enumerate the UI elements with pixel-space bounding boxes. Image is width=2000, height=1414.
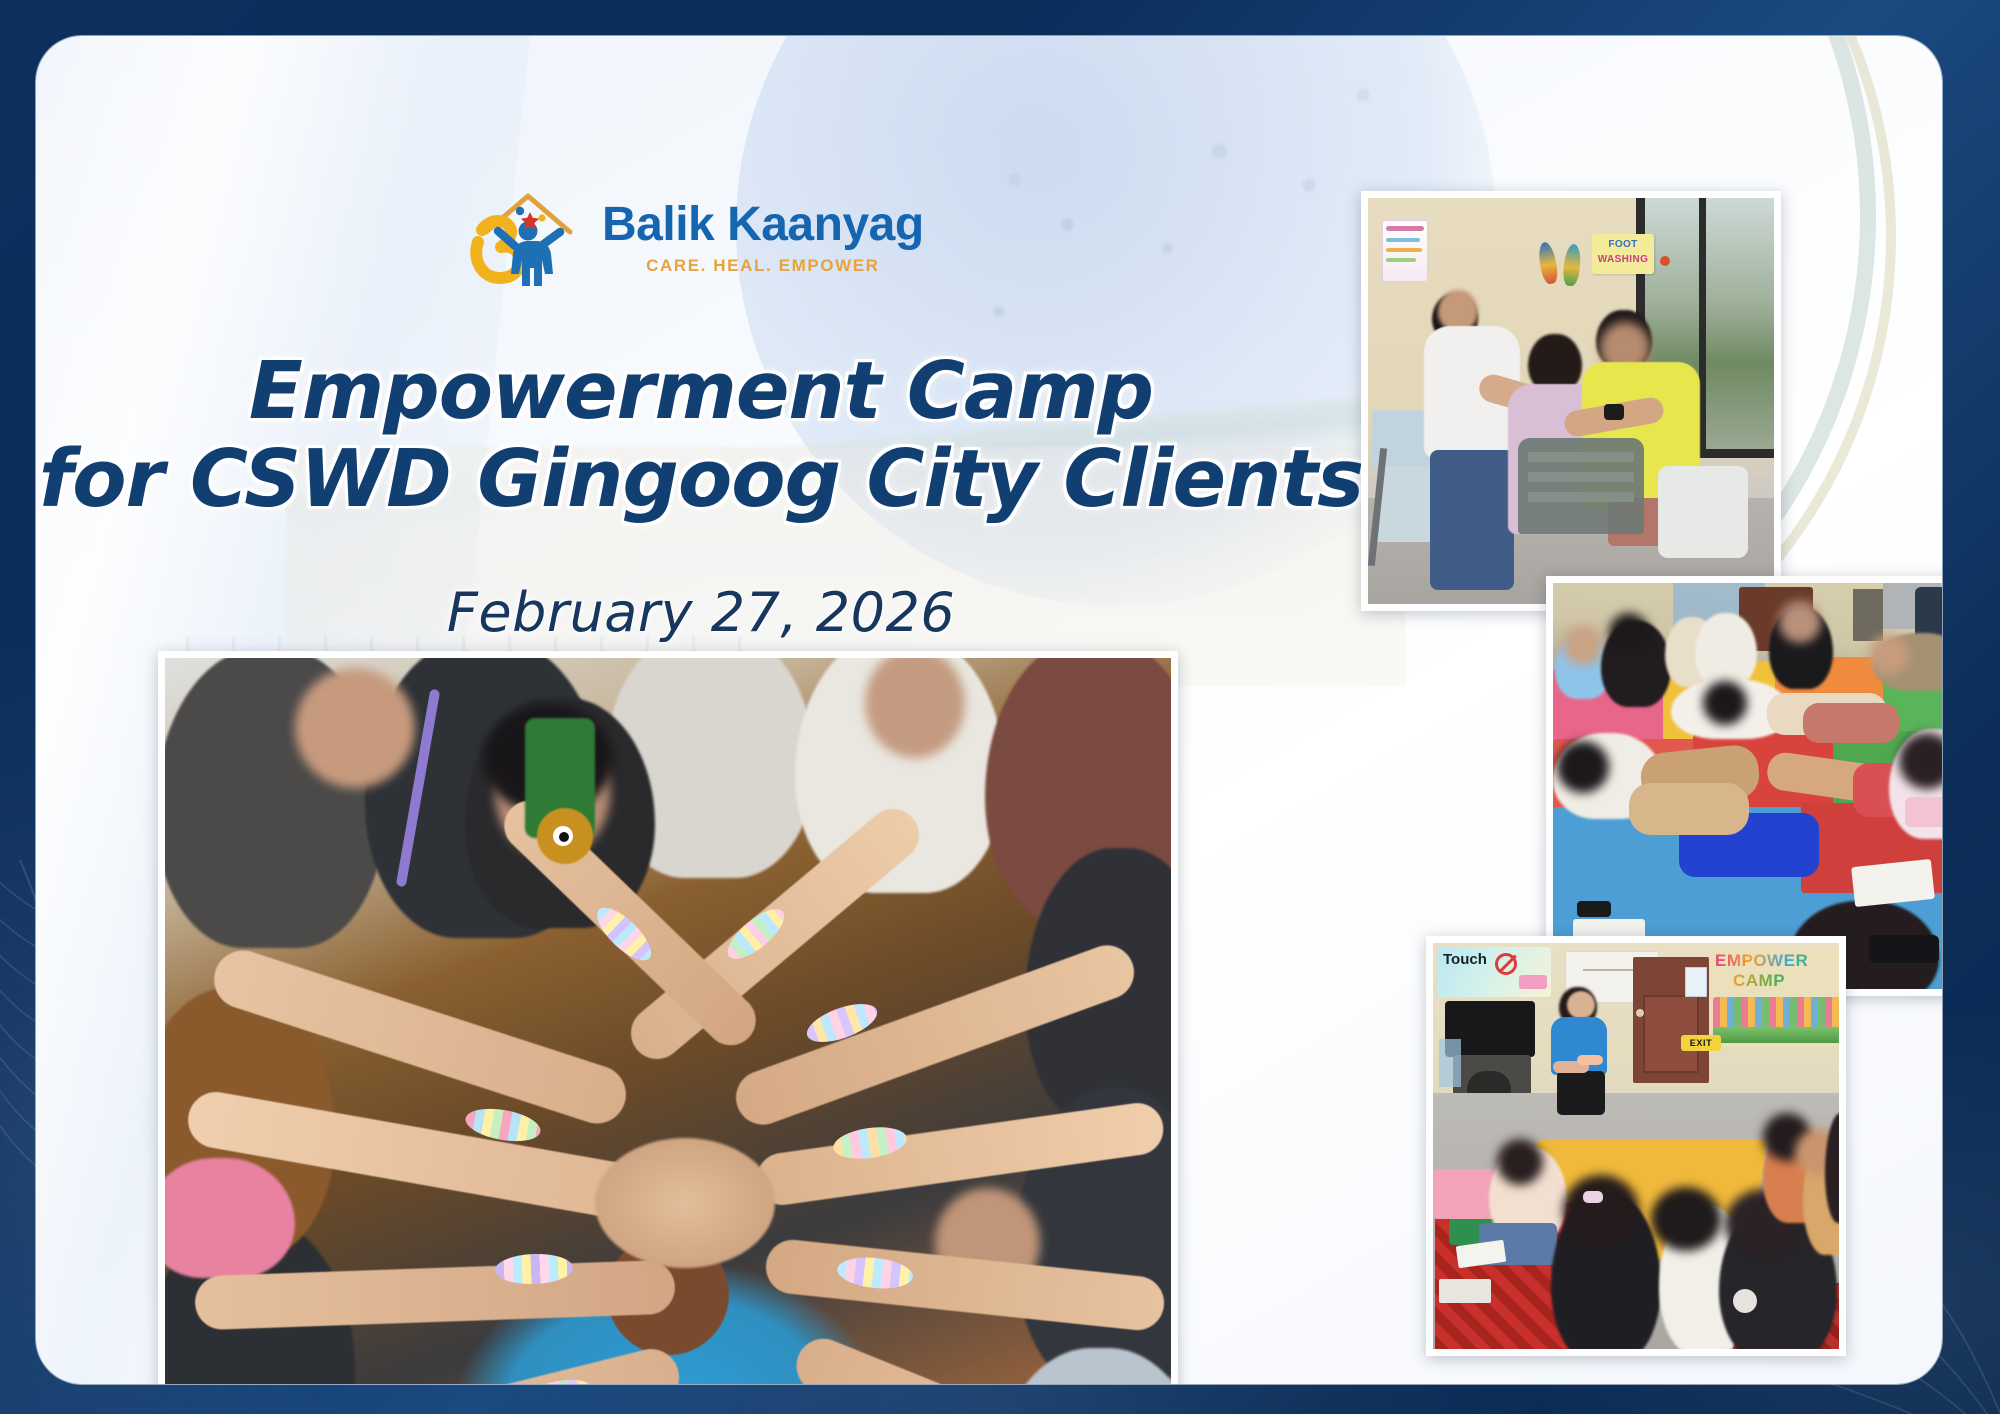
title-line-1: Empowerment Camp — [36, 348, 1366, 436]
balik-kaanyag-logo: Balik Kaanyag CARE. HEAL. EMPOWER — [468, 186, 924, 290]
poster-panel: Balik Kaanyag CARE. HEAL. EMPOWER Empowe… — [36, 36, 1942, 1384]
touch-sign-text: Touch — [1443, 951, 1487, 968]
logo-tagline: CARE. HEAL. EMPOWER — [602, 256, 924, 276]
event-date: February 27, 2026 — [36, 581, 1366, 644]
photo-floor-mat-activity-image — [1553, 583, 1942, 989]
exit-sign-text: EXIT — [1690, 1038, 1712, 1048]
exit-sign: EXIT — [1681, 1035, 1721, 1051]
photo-group-session-image: Touch EMPOWER CAMP — [1433, 943, 1839, 1349]
title-line-2: for CSWD Gingoog City Clients — [36, 436, 1366, 524]
logo-wordmark: Balik Kaanyag — [602, 201, 924, 249]
foot-washing-sign-text: FOOT — [1594, 237, 1652, 251]
photo-floor-mat-activity — [1546, 576, 1942, 996]
photo-group-session: Touch EMPOWER CAMP — [1426, 936, 1846, 1356]
poster-canvas: Balik Kaanyag CARE. HEAL. EMPOWER Empowe… — [0, 0, 2000, 1414]
photo-hands-circle — [158, 651, 1178, 1384]
empower-camp-sign-text: EMPOWER — [1715, 951, 1839, 971]
photo-counselling-session-image: FOOT WASHING — [1368, 198, 1774, 604]
foot-washing-sign-text-2: WASHING — [1594, 252, 1652, 266]
page-title: Empowerment Camp for CSWD Gingoog City C… — [36, 348, 1366, 523]
photo-hands-circle-image — [165, 658, 1171, 1384]
logo-mark-icon — [468, 186, 588, 290]
empower-camp-sign-text-2: CAMP — [1733, 971, 1839, 991]
photo-counselling-session: FOOT WASHING — [1361, 191, 1781, 611]
